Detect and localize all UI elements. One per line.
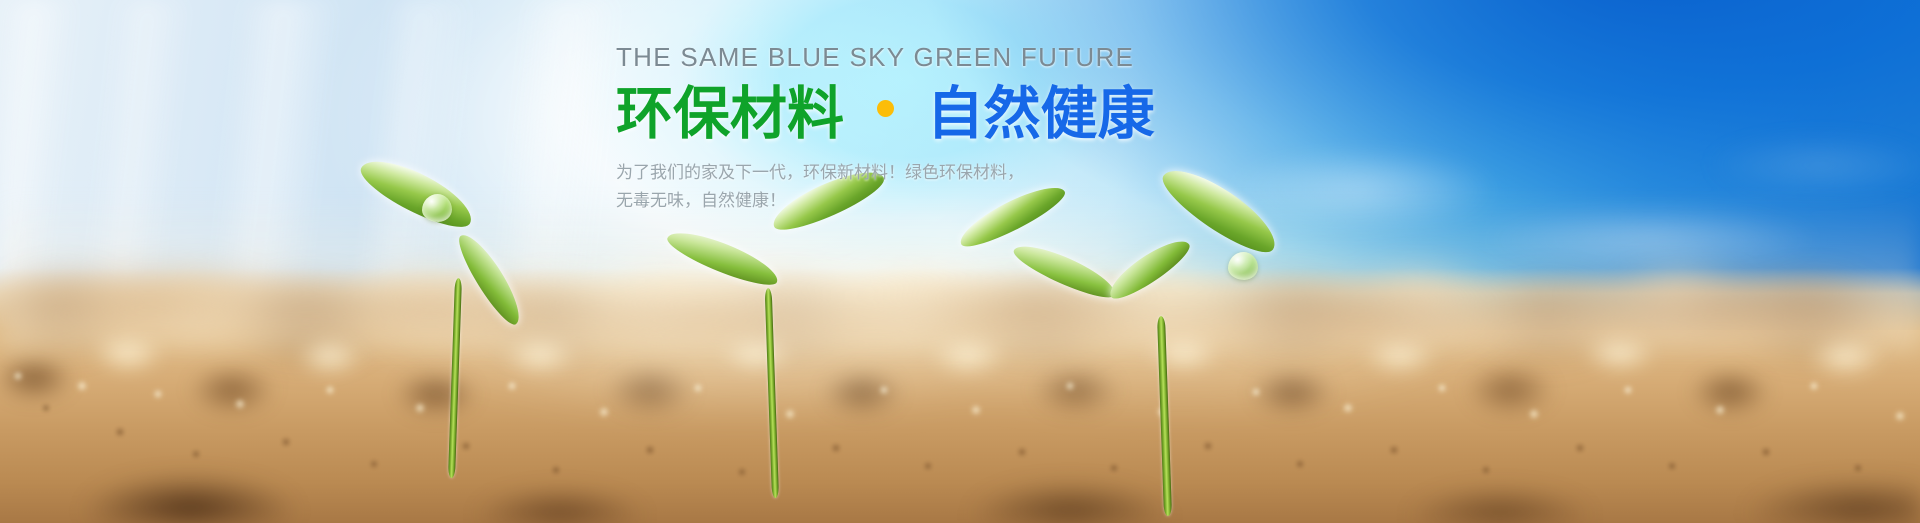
headline-blue-text: 自然健康 — [927, 82, 1155, 146]
headline-dot-separator — [877, 100, 894, 117]
banner-eyebrow: THE SAME BLUE SKY GREEN FUTURE — [616, 44, 1276, 70]
seedling-center-stem — [765, 288, 779, 498]
seedling-left — [350, 170, 570, 470]
banner-subcopy-line-2: 无毒无味，自然健康！ — [616, 187, 1276, 215]
seedling-left-dewdrop — [422, 194, 452, 222]
banner-subcopy-line-1: 为了我们的家及下一代，环保新材料！绿色环保材料， — [616, 159, 1276, 187]
seedling-right-dewdrop — [1228, 252, 1258, 280]
headline-green-text: 环保材料 — [616, 82, 844, 146]
seedling-right-leaf-lower — [1103, 232, 1195, 306]
eco-material-hero-banner: THE SAME BLUE SKY GREEN FUTURE 环保材料 自然健康… — [0, 0, 1920, 523]
banner-subcopy: 为了我们的家及下一代，环保新材料！绿色环保材料， 无毒无味，自然健康！ — [616, 159, 1276, 214]
banner-headline: 环保材料 自然健康 — [616, 84, 1276, 144]
seedling-center-leaf-left — [663, 223, 783, 293]
seedling-right-stem — [1157, 316, 1172, 516]
banner-copy-block: THE SAME BLUE SKY GREEN FUTURE 环保材料 自然健康… — [616, 44, 1276, 214]
seedling-left-stem — [448, 278, 462, 478]
seedling-center — [660, 178, 890, 478]
seedling-left-leaf-lower — [451, 228, 528, 330]
seedling-right — [1086, 186, 1316, 516]
